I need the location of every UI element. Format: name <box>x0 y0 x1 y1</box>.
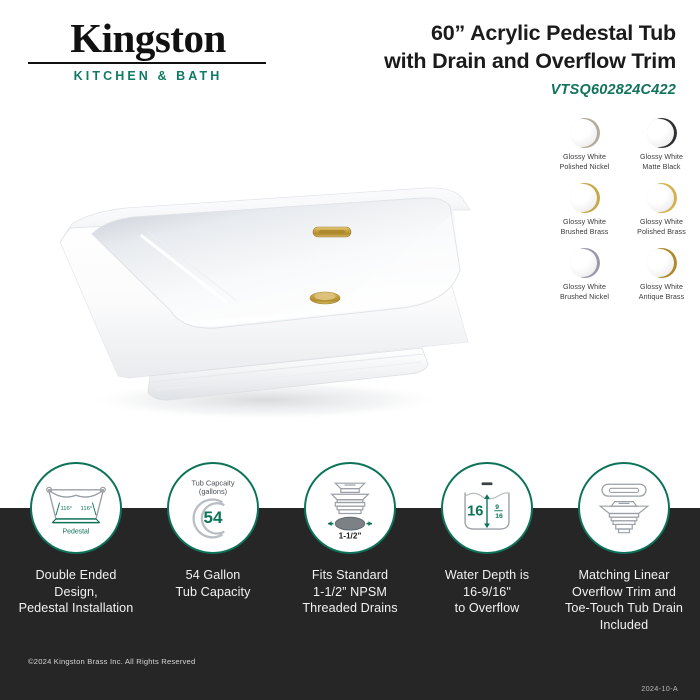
water-depth-icon: 16 9 16 <box>441 462 533 554</box>
drain-assembly-icon: 1-1/2" <box>304 462 396 554</box>
feature-item: Matching Linear Overflow Trim and Toe-To… <box>562 462 686 642</box>
finish-swatch-white <box>570 249 597 277</box>
finish-swatch[interactable]: Glossy White Brushed Nickel <box>548 248 621 302</box>
overflow-trim-brass <box>313 227 351 237</box>
finish-swatch-white <box>570 119 597 147</box>
document-revision: 2024-10-A <box>641 684 678 693</box>
feature-item: Tub Capcaity (gallons) 54 54 Gallon Tub … <box>151 462 275 642</box>
product-image <box>30 150 500 440</box>
depth-numerator: 9 <box>495 504 499 511</box>
feature-caption: Double Ended Design, Pedestal Installati… <box>14 567 138 617</box>
logo-divider <box>28 62 266 64</box>
angle-left-label: 116° <box>61 506 73 512</box>
feature-caption: Water Depth is 16-9/16" to Overflow <box>445 567 529 617</box>
spec-sheet: Kingston KITCHEN & BATH 60” Acrylic Pede… <box>0 0 700 700</box>
model-number: VTSQ602824C422 <box>316 82 676 98</box>
finish-swatch-white <box>647 249 674 277</box>
capacity-gauge-icon: Tub Capcaity (gallons) 54 <box>167 462 259 554</box>
feature-caption: 54 Gallon Tub Capacity <box>176 567 251 600</box>
capacity-heading-line2: (gallons) <box>199 487 227 496</box>
finish-swatch-white <box>647 119 674 147</box>
finish-swatch[interactable]: Glossy White Matte Black <box>625 118 698 172</box>
product-title-block: 60” Acrylic Pedestal Tub with Drain and … <box>316 20 676 98</box>
brand-name: Kingston <box>28 18 268 59</box>
finish-swatch-white <box>647 184 674 212</box>
tub-drain-brass <box>310 292 340 304</box>
brand-tagline: KITCHEN & BATH <box>28 69 268 83</box>
finish-swatch-circle <box>570 248 600 278</box>
finish-swatch-label: Glossy White Antique Brass <box>639 283 684 302</box>
finish-swatch[interactable]: Glossy White Polished Nickel <box>548 118 621 172</box>
page-title-line1: 60” Acrylic Pedestal Tub <box>316 20 676 48</box>
finish-swatch-circle <box>647 118 677 148</box>
depth-denominator: 16 <box>495 513 503 520</box>
finish-swatch-circle <box>647 183 677 213</box>
angle-right-label: 116° <box>81 506 93 512</box>
page-title-line2: with Drain and Overflow Trim <box>316 48 676 76</box>
finish-swatch-label: Glossy White Brushed Brass <box>561 218 609 237</box>
feature-item: 1-1/2" Fits Standard 1-1/2” NPSM Threade… <box>288 462 412 642</box>
finish-swatch-circle <box>570 118 600 148</box>
finish-swatch[interactable]: Glossy White Brushed Brass <box>548 183 621 237</box>
finish-swatch-white <box>570 184 597 212</box>
finish-swatch[interactable]: Glossy White Antique Brass <box>625 248 698 302</box>
finish-swatch-label: Glossy White Matte Black <box>640 153 683 172</box>
depth-whole: 16 <box>467 503 483 519</box>
brand-logo: Kingston KITCHEN & BATH <box>28 18 298 83</box>
feature-row: 116° 116° Pedestal Double Ended Design, … <box>0 462 700 642</box>
finish-swatch-label: Glossy White Polished Nickel <box>560 153 610 172</box>
finish-swatch-label: Glossy White Polished Brass <box>637 218 686 237</box>
tub-pedestal-icon: 116° 116° Pedestal <box>30 462 122 554</box>
finish-swatch-circle <box>570 183 600 213</box>
drain-dimension-label: 1-1/2" <box>339 531 362 540</box>
finish-swatch-grid: Glossy White Polished NickelGlossy White… <box>548 118 698 302</box>
feature-caption: Fits Standard 1-1/2” NPSM Threaded Drain… <box>302 567 397 617</box>
bathtub-illustration <box>30 150 500 440</box>
finish-swatch-label: Glossy White Brushed Nickel <box>560 283 609 302</box>
feature-item: 16 9 16 Water Depth is 16-9/16" to Overf… <box>425 462 549 642</box>
copyright-text: ©2024 Kingston Brass Inc. All Rights Res… <box>28 657 195 666</box>
capacity-value: 54 <box>204 508 223 527</box>
feature-item: 116° 116° Pedestal Double Ended Design, … <box>14 462 138 642</box>
overflow-trim-drain-icon <box>578 462 670 554</box>
finish-swatch-circle <box>647 248 677 278</box>
page-header: Kingston KITCHEN & BATH 60” Acrylic Pede… <box>0 0 700 115</box>
finish-swatch[interactable]: Glossy White Polished Brass <box>625 183 698 237</box>
feature-caption: Matching Linear Overflow Trim and Toe-To… <box>565 567 683 634</box>
pedestal-label: Pedestal <box>63 529 90 536</box>
